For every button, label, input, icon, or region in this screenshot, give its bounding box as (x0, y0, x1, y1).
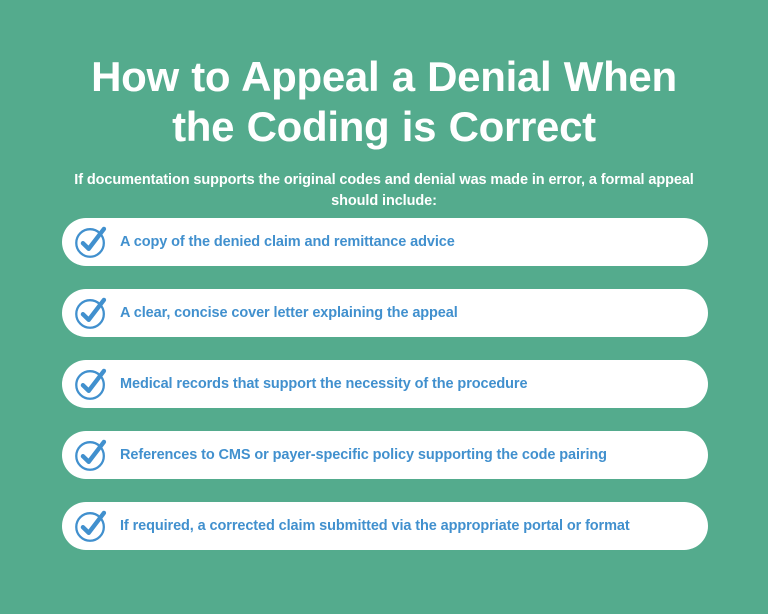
page-subtitle: If documentation supports the original c… (62, 152, 706, 212)
page-title: How to Appeal a Denial When the Coding i… (62, 0, 706, 152)
checklist: A copy of the denied claim and remittanc… (62, 218, 708, 550)
check-circle-icon (72, 507, 110, 545)
list-item-label: If required, a corrected claim submitted… (120, 517, 630, 535)
list-item-label: Medical records that support the necessi… (120, 375, 527, 393)
list-item-label: References to CMS or payer-specific poli… (120, 446, 607, 464)
list-item-label: A clear, concise cover letter explaining… (120, 304, 458, 322)
list-item-label: A copy of the denied claim and remittanc… (120, 233, 455, 251)
list-item: A clear, concise cover letter explaining… (62, 289, 708, 337)
check-circle-icon (72, 294, 110, 332)
check-circle-icon (72, 436, 110, 474)
header-block: How to Appeal a Denial When the Coding i… (0, 0, 768, 212)
check-circle-icon (72, 365, 110, 403)
check-circle-icon (72, 223, 110, 261)
list-item: A copy of the denied claim and remittanc… (62, 218, 708, 266)
list-item: If required, a corrected claim submitted… (62, 502, 708, 550)
list-item: Medical records that support the necessi… (62, 360, 708, 408)
list-item: References to CMS or payer-specific poli… (62, 431, 708, 479)
infographic-poster: How to Appeal a Denial When the Coding i… (0, 0, 768, 614)
